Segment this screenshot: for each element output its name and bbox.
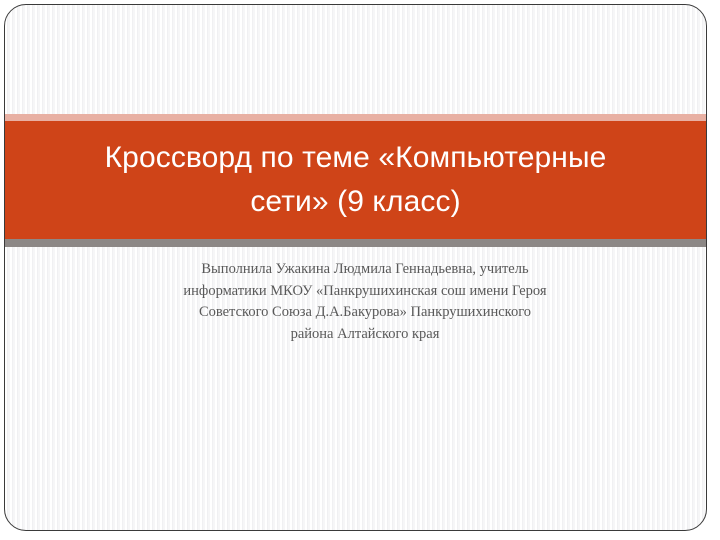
slide-canvas: Кроссворд по теме «Компьютерные сети» (9… xyxy=(0,0,720,540)
title-accent-strip-top xyxy=(5,114,706,121)
title-banner: Кроссворд по теме «Компьютерные сети» (9… xyxy=(5,121,706,239)
subtitle-line-4: района Алтайского края xyxy=(113,324,617,346)
slide-title-line-2: сети» (9 класс) xyxy=(36,180,676,224)
slide-subtitle: Выполнила Ужакина Людмила Геннадьевна, у… xyxy=(113,259,617,345)
slide-title-line-1: Кроссворд по теме «Компьютерные xyxy=(36,136,676,180)
title-banner-inner: Кроссворд по теме «Компьютерные сети» (9… xyxy=(36,136,676,224)
presentation-slide: Кроссворд по теме «Компьютерные сети» (9… xyxy=(4,4,707,531)
subtitle-line-3: Советского Союза Д.А.Бакурова» Панкруших… xyxy=(113,302,617,324)
subtitle-line-2: информатики МКОУ «Панкрушихинская сош им… xyxy=(113,281,617,303)
title-accent-strip-bottom xyxy=(5,239,706,247)
subtitle-line-1: Выполнила Ужакина Людмила Геннадьевна, у… xyxy=(113,259,617,281)
